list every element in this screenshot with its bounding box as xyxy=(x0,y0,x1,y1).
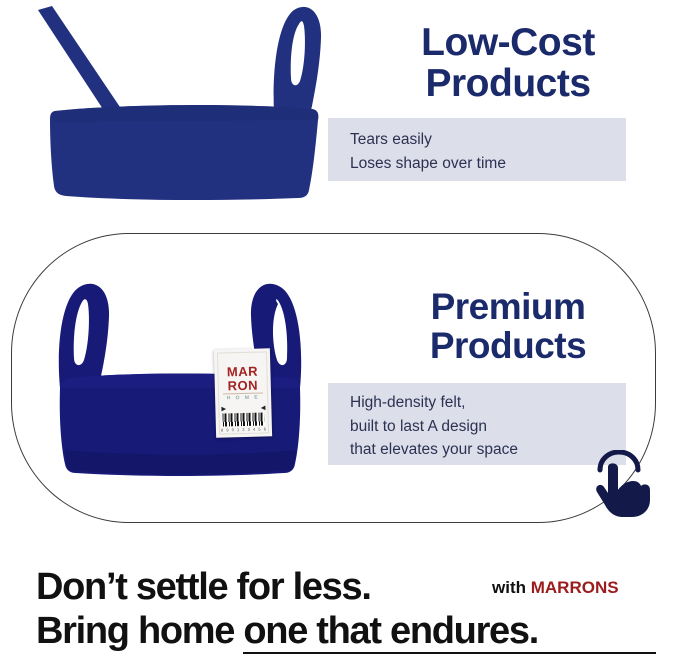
premium-note-box: High-density felt, built to last A desig… xyxy=(328,383,626,465)
slogan-row-2: Bring home one that endures. xyxy=(36,610,656,656)
slogan-underline xyxy=(243,652,656,654)
tag-arrow-marks: ▶ ◀ xyxy=(221,404,265,411)
with-label: with xyxy=(492,578,526,597)
low-cost-basket-image xyxy=(22,4,332,214)
tag-brand-line-2: RON xyxy=(215,378,271,392)
slogan-line-1: Don’t settle for less. xyxy=(36,566,371,609)
marron-product-tag: MAR RON H O M E ▶ ◀ 8 9 0 1 2 3 4 5 6 xyxy=(214,348,272,437)
premium-title-line-1: Premium xyxy=(352,287,664,326)
with-brand-tagline: with MARRONS xyxy=(492,578,619,598)
slogan-block: Don’t settle for less. with MARRONS Brin… xyxy=(36,566,656,656)
premium-note-line-2: built to last A design xyxy=(350,415,626,439)
low-cost-note-box: Tears easily Loses shape over time xyxy=(328,118,626,181)
low-cost-title: Low-Cost Products xyxy=(352,22,664,105)
poster-canvas: Low-Cost Products Tears easily Loses sha… xyxy=(0,0,679,666)
slogan-line-2: Bring home one that endures. xyxy=(36,610,538,653)
premium-title-line-2: Products xyxy=(352,326,664,365)
tag-left-arrow-icon: ▶ xyxy=(221,405,226,411)
brand-name-label: MARRONS xyxy=(531,578,619,597)
premium-title: Premium Products xyxy=(352,287,664,365)
tap-hand-cursor-icon xyxy=(592,450,654,525)
low-cost-note-line-2: Loses shape over time xyxy=(350,152,626,176)
tag-barcode xyxy=(223,412,265,426)
tag-right-arrow-icon: ◀ xyxy=(261,404,266,410)
slogan-row-1: Don’t settle for less. with MARRONS xyxy=(36,566,656,610)
premium-basket-image xyxy=(40,278,320,493)
premium-note-line-1: High-density felt, xyxy=(350,391,626,415)
low-cost-title-line-2: Products xyxy=(352,63,664,104)
low-cost-note-line-1: Tears easily xyxy=(350,128,626,152)
premium-note-line-3: that elevates your space xyxy=(350,438,626,462)
low-cost-title-line-1: Low-Cost xyxy=(352,22,664,63)
tag-brand-line-1: MAR xyxy=(214,364,270,378)
